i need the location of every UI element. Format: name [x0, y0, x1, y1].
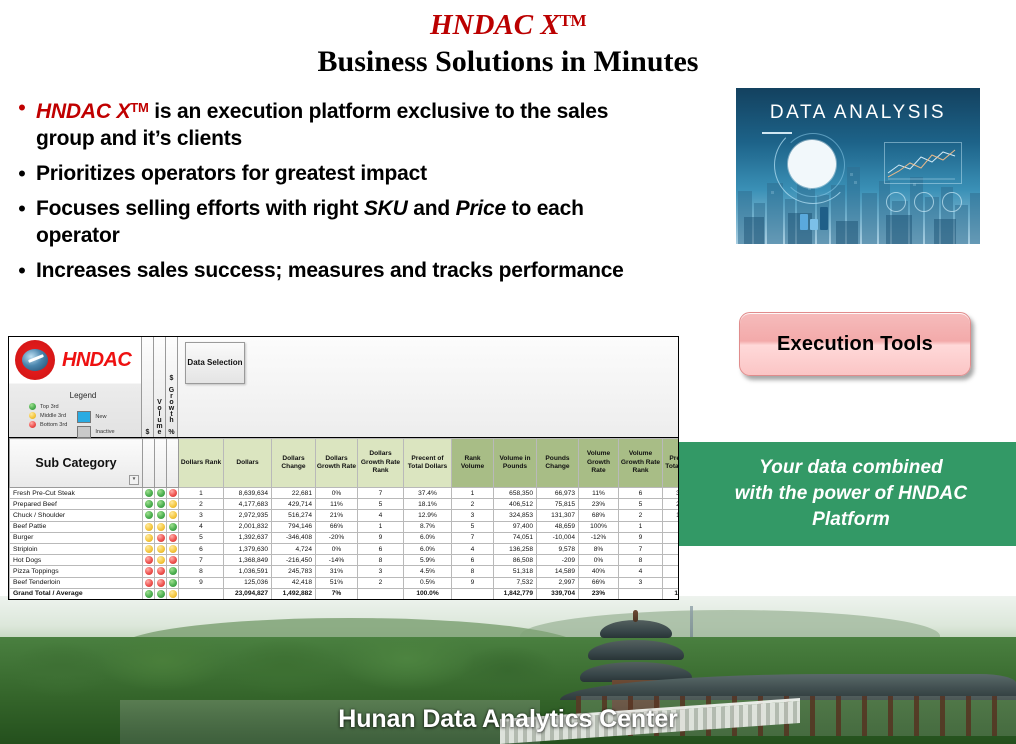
traffic-light-growth-icon [167, 555, 179, 566]
bullet-text: Prioritizes operators for greatest impac… [36, 160, 638, 187]
cell-rank-volume: 2 [452, 499, 494, 510]
cell-pct-total-volume: 35.7% [663, 488, 680, 499]
cell-dollars: 23,094,827 [224, 588, 272, 599]
bullet-text: Increases sales success; measures and tr… [36, 257, 638, 284]
traffic-light-dollars-icon [143, 588, 155, 599]
cell-volume-growth-rate-rank: 5 [619, 499, 663, 510]
column-header-light-growth [167, 439, 179, 488]
status-dot-Y [169, 590, 177, 598]
cell-volume-pounds: 136,258 [494, 543, 537, 554]
cell-pct-total-volume: 7.4% [663, 543, 680, 554]
status-dot-Y [169, 500, 177, 508]
legend: Legend Top 3rd Middle 3rd Bo [9, 383, 141, 437]
cell-dollars-growth-rate: 21% [316, 510, 358, 521]
cell-pounds-change: 75,815 [537, 499, 579, 510]
brand-name-label: HNDAC [62, 349, 131, 372]
table-row: Fresh Pre-Cut Steak18,639,63422,6810%737… [10, 488, 680, 499]
legend-inactive-square-icon [77, 426, 91, 438]
execution-tools-label: Execution Tools [777, 333, 933, 356]
cell-dollars-growth-rate-rank: 8 [358, 555, 404, 566]
column-header-sub-category[interactable]: Sub Category▾ [10, 439, 143, 488]
cell-dollars-growth-rate: 31% [316, 566, 358, 577]
cell-dollars-growth-rate: 7% [316, 588, 358, 599]
cell-volume-growth-rate-rank: 4 [619, 566, 663, 577]
cell-dollars-growth-rate-rank: 6 [358, 543, 404, 554]
cell-sub-category: Burger [10, 532, 143, 543]
cell-rank-volume: 4 [452, 543, 494, 554]
traffic-light-dollars-icon [143, 543, 155, 554]
cell-dollars-growth-rate-rank: 1 [358, 521, 404, 532]
brand-legend-cell: HNDAC Legend Top 3rd Middle 3rd [9, 337, 142, 437]
cell-pct-total-dollars: 37.4% [404, 488, 452, 499]
status-dot-R [169, 489, 177, 497]
cell-sub-category: Hot Dogs [10, 555, 143, 566]
chart-bar-1 [800, 214, 808, 230]
cell-volume-growth-rate-rank: 3 [619, 577, 663, 588]
bullet-dot-icon: • [8, 257, 36, 284]
status-dot-G [145, 489, 153, 497]
cell-pct-total-volume: 4.7% [663, 555, 680, 566]
green-message-panel: Your data combined with the power of HND… [686, 442, 1016, 546]
cell-volume-growth-rate-rank: 8 [619, 555, 663, 566]
cell-dollars-change: 516,274 [272, 510, 316, 521]
cell-dollars-rank [179, 588, 224, 599]
traffic-light-growth-icon [167, 521, 179, 532]
cell-pct-total-dollars: 6.0% [404, 532, 452, 543]
traffic-light-growth-icon [167, 566, 179, 577]
status-dot-Y [145, 545, 153, 553]
traffic-light-dollars-icon [143, 510, 155, 521]
cell-pct-total-volume: 2.8% [663, 566, 680, 577]
cell-rank-volume: 7 [452, 532, 494, 543]
pagoda-finial [633, 610, 638, 622]
table-row: Striploin61,379,6304,7240%66.0%4136,2589… [10, 543, 680, 554]
page-subtitle: Business Solutions in Minutes [0, 44, 1016, 80]
traffic-light-growth-icon [167, 510, 179, 521]
cell-dollars-growth-rate-rank [358, 588, 404, 599]
cell-dollars-change: -346,408 [272, 532, 316, 543]
cell-pct-total-volume: 100.0% [663, 588, 680, 599]
data-analysis-caption: DATA ANALYSIS [736, 102, 980, 124]
legend-green-dot-icon [29, 403, 36, 410]
status-dot-R [169, 534, 177, 542]
bullet-dot-icon: • [8, 195, 36, 222]
status-dot-Y [157, 556, 165, 564]
legend-yellow-dot-icon [29, 412, 36, 419]
cell-dollars-growth-rate: 51% [316, 577, 358, 588]
status-dot-R [145, 579, 153, 587]
vertical-column-label: Volume [156, 399, 163, 435]
cell-pct-total-dollars: 4.5% [404, 566, 452, 577]
cell-volume-pounds: 74,051 [494, 532, 537, 543]
traffic-light-volume-icon [155, 588, 167, 599]
bullet-emphasis: HNDAC XTM [36, 100, 149, 123]
traffic-light-dollars-icon [143, 532, 155, 543]
cell-sub-category: Beef Pattie [10, 521, 143, 532]
cell-pct-total-dollars: 100.0% [404, 588, 452, 599]
cell-pct-total-dollars: 0.5% [404, 577, 452, 588]
status-dot-R [145, 556, 153, 564]
bullet-emphasis-tm: TM [130, 100, 148, 115]
column-header-volume-growth-rate-rank[interactable]: Volume Growth Rate Rank [619, 439, 663, 488]
legend-new-square-icon [77, 411, 91, 423]
column-header-light-volume [155, 439, 167, 488]
status-dot-G [145, 511, 153, 519]
cell-pounds-change: 2,997 [537, 577, 579, 588]
legend-label: Middle 3rd [40, 413, 66, 419]
cell-volume-growth-rate: 66% [579, 577, 619, 588]
column-header-pounds-change[interactable]: Pounds Change [537, 439, 579, 488]
vertical-column-label: $ Growth % [168, 375, 175, 435]
cell-pounds-change: -10,004 [537, 532, 579, 543]
cell-pct-total-volume: 5.3% [663, 521, 680, 532]
cell-volume-growth-rate-rank: 1 [619, 521, 663, 532]
traffic-light-volume-icon [155, 566, 167, 577]
legend-item-bottom-third: Bottom 3rd [29, 421, 67, 428]
traffic-light-dollars-icon [143, 577, 155, 588]
line-chart-panel [884, 142, 962, 184]
cell-dollars: 8,639,634 [224, 488, 272, 499]
cell-volume-growth-rate: 0% [579, 555, 619, 566]
traffic-light-volume-icon [155, 521, 167, 532]
status-dot-Y [169, 545, 177, 553]
cell-dollars-change: 22,681 [272, 488, 316, 499]
cell-dollars-growth-rate: 0% [316, 543, 358, 554]
cell-pct-total-dollars: 6.0% [404, 543, 452, 554]
legend-column-left: Top 3rd Middle 3rd Bottom 3rd [29, 403, 67, 438]
cell-rank-volume: 8 [452, 566, 494, 577]
bullet-dot-icon: • [8, 160, 36, 187]
cell-pounds-change: 339,704 [537, 588, 579, 599]
legend-title: Legend [31, 391, 135, 400]
bullet-italic-sku: SKU [364, 197, 408, 220]
cell-sub-category: Striploin [10, 543, 143, 554]
cell-dollars-rank: 1 [179, 488, 224, 499]
table-row: Beef Tenderloin9125,03642,41851%20.5%97,… [10, 577, 680, 588]
bullet-dot-icon: • [8, 94, 36, 121]
column-header-rank-volume[interactable]: Rank Volume [452, 439, 494, 488]
cell-dollars-rank: 6 [179, 543, 224, 554]
column-header-volume-pounds[interactable]: Volume in Pounds [494, 439, 537, 488]
data-selection-button[interactable]: Data Selection [185, 342, 245, 384]
cell-volume-growth-rate: 68% [579, 510, 619, 521]
legend-red-dot-icon [29, 421, 36, 428]
cell-pounds-change: 9,578 [537, 543, 579, 554]
traffic-light-growth-icon [167, 488, 179, 499]
column-header-dollars-growth-rate[interactable]: Dollars Growth Rate [316, 439, 358, 488]
table-row: Chuck / Shoulder32,972,935516,27421%412.… [10, 510, 680, 521]
cell-dollars: 4,177,683 [224, 499, 272, 510]
cell-volume-growth-rate: 8% [579, 543, 619, 554]
cell-dollars-growth-rate-rank: 9 [358, 532, 404, 543]
column-header-dollars-change[interactable]: Dollars Change [272, 439, 316, 488]
column-header-label: Sub Category [35, 456, 116, 470]
status-dot-G [169, 567, 177, 575]
chart-bar-2 [810, 219, 818, 230]
bullet-list: • HNDAC XTM is an execution platform exc… [8, 94, 638, 292]
cell-dollars: 1,392,637 [224, 532, 272, 543]
green-panel-line-1: Your data combined [735, 455, 967, 481]
logo-needle [28, 354, 44, 363]
page-title-text: HNDAC X [430, 9, 560, 41]
traffic-light-dollars-icon [143, 488, 155, 499]
traffic-light-growth-icon [167, 588, 179, 599]
cell-volume-growth-rate: 11% [579, 488, 619, 499]
cell-pounds-change: 14,589 [537, 566, 579, 577]
vertical-column-dollars[interactable]: $ [142, 337, 154, 437]
cell-volume-pounds: 658,350 [494, 488, 537, 499]
cell-dollars-growth-rate-rank: 5 [358, 499, 404, 510]
traffic-light-dollars-icon [143, 566, 155, 577]
cell-volume-growth-rate: 40% [579, 566, 619, 577]
cell-sub-category: Fresh Pre-Cut Steak [10, 488, 143, 499]
data-analysis-image: DATA ANALYSIS [736, 88, 980, 244]
vertical-column-volume[interactable]: Volume [154, 337, 166, 437]
cell-dollars-rank: 3 [179, 510, 224, 521]
status-dot-G [145, 590, 153, 598]
traffic-light-volume-icon [155, 499, 167, 510]
table-row: Prepared Beef24,177,683429,71411%518.1%2… [10, 499, 680, 510]
column-header-light-dollars [143, 439, 155, 488]
table-row: Hot Dogs71,368,849-216,450-14%85.9%686,5… [10, 555, 680, 566]
cell-pounds-change: 131,307 [537, 510, 579, 521]
traffic-light-growth-icon [167, 499, 179, 510]
cell-volume-pounds: 324,853 [494, 510, 537, 521]
status-dot-Y [145, 523, 153, 531]
brand-logo-row: HNDAC [9, 337, 141, 383]
cell-dollars: 1,368,849 [224, 555, 272, 566]
legend-item-new: New [77, 411, 114, 423]
table-total-row: Grand Total / Average23,094,8271,492,882… [10, 588, 680, 599]
trademark-symbol: TM [560, 11, 586, 30]
cell-sub-category: Prepared Beef [10, 499, 143, 510]
page-title: HNDAC XTM [0, 4, 1016, 42]
cell-dollars-growth-rate-rank: 4 [358, 510, 404, 521]
cell-rank-volume: 6 [452, 555, 494, 566]
cell-dollars-change: 1,492,882 [272, 588, 316, 599]
cell-pounds-change: 48,659 [537, 521, 579, 532]
cell-dollars-growth-rate: 0% [316, 488, 358, 499]
traffic-light-growth-icon [167, 532, 179, 543]
bullet-italic-price: Price [456, 197, 506, 220]
cell-dollars-growth-rate: 66% [316, 521, 358, 532]
cell-dollars-change: 42,418 [272, 577, 316, 588]
traffic-light-volume-icon [155, 543, 167, 554]
spreadsheet-header-panel: HNDAC Legend Top 3rd Middle 3rd [9, 337, 678, 438]
list-item: • Focuses selling efforts with right SKU… [8, 195, 638, 249]
status-dot-R [157, 579, 165, 587]
traffic-light-growth-icon [167, 543, 179, 554]
table-header-row: Sub Category▾ Dollars Rank Dollars Dolla… [10, 439, 680, 488]
status-dot-Y [157, 545, 165, 553]
green-panel-line-2: with the power of HNDAC [735, 481, 967, 507]
status-dot-R [157, 534, 165, 542]
chart-bar-3 [820, 207, 828, 230]
cell-rank-volume: 3 [452, 510, 494, 521]
status-dot-R [145, 567, 153, 575]
cell-dollars-rank: 9 [179, 577, 224, 588]
cell-volume-growth-rate-rank [619, 588, 663, 599]
cell-dollars-change: 245,783 [272, 566, 316, 577]
cell-sub-category: Chuck / Shoulder [10, 510, 143, 521]
cell-pounds-change: -209 [537, 555, 579, 566]
table-body: Fresh Pre-Cut Steak18,639,63422,6810%737… [10, 488, 680, 600]
filter-dropdown-icon[interactable]: ▾ [129, 475, 139, 485]
cell-dollars: 1,036,591 [224, 566, 272, 577]
list-item: • Increases sales success; measures and … [8, 257, 638, 284]
hndac-logo-icon [15, 340, 55, 380]
cell-volume-pounds: 1,842,779 [494, 588, 537, 599]
bullet-emphasis-text: HNDAC X [36, 100, 130, 123]
slide-title-block: HNDAC XTM Business Solutions in Minutes [0, 4, 1016, 80]
cell-dollars-change: 794,146 [272, 521, 316, 532]
cell-pounds-change: 66,973 [537, 488, 579, 499]
status-circle-2 [914, 192, 934, 212]
cell-dollars-growth-rate-rank: 7 [358, 488, 404, 499]
cell-sub-category: Grand Total / Average [10, 588, 143, 599]
legend-label: Top 3rd [40, 404, 59, 410]
cell-dollars-rank: 5 [179, 532, 224, 543]
cell-dollars-change: 4,724 [272, 543, 316, 554]
cell-volume-growth-rate-rank: 2 [619, 510, 663, 521]
bullet-text: Focuses selling efforts with right SKU a… [36, 195, 638, 249]
status-circle-3 [942, 192, 962, 212]
table-row: Burger51,392,637-346,408-20%96.0%774,051… [10, 532, 680, 543]
list-item: • HNDAC XTM is an execution platform exc… [8, 94, 638, 152]
legend-item-middle-third: Middle 3rd [29, 412, 67, 419]
legend-items: Top 3rd Middle 3rd Bottom 3rd [29, 403, 135, 438]
cell-volume-pounds: 51,318 [494, 566, 537, 577]
toolbar-pane: Data Selection [178, 337, 678, 437]
cell-volume-growth-rate-rank: 7 [619, 543, 663, 554]
cell-volume-growth-rate-rank: 9 [619, 532, 663, 543]
cell-sub-category: Pizza Toppings [10, 566, 143, 577]
cell-rank-volume: 5 [452, 521, 494, 532]
status-dot-G [169, 579, 177, 587]
cell-sub-category: Beef Tenderloin [10, 577, 143, 588]
cell-volume-pounds: 86,508 [494, 555, 537, 566]
status-dot-G [145, 500, 153, 508]
green-panel-text: Your data combined with the power of HND… [735, 455, 967, 533]
traffic-light-volume-icon [155, 488, 167, 499]
cell-dollars-change: 429,714 [272, 499, 316, 510]
cell-dollars: 1,379,630 [224, 543, 272, 554]
cell-dollars-growth-rate: 11% [316, 499, 358, 510]
cell-dollars-growth-rate-rank: 3 [358, 566, 404, 577]
traffic-light-volume-icon [155, 510, 167, 521]
photo-banner-caption: Hunan Data Analytics Center [0, 705, 1016, 734]
bottom-photo-banner: Hunan Data Analytics Center [0, 596, 1016, 744]
status-dot-Y [157, 523, 165, 531]
cell-pct-total-dollars: 12.9% [404, 510, 452, 521]
status-dot-R [169, 556, 177, 564]
cell-pct-total-dollars: 18.1% [404, 499, 452, 510]
cell-volume-pounds: 406,512 [494, 499, 537, 510]
column-header-volume-growth-rate[interactable]: Volume Growth Rate [579, 439, 619, 488]
cell-volume-pounds: 97,400 [494, 521, 537, 532]
vertical-column-dollar-growth[interactable]: $ Growth % [166, 337, 178, 437]
legend-column-right: New Inactive [77, 403, 114, 438]
cell-volume-growth-rate: -12% [579, 532, 619, 543]
cell-dollars-rank: 2 [179, 499, 224, 510]
cell-dollars-change: -216,450 [272, 555, 316, 566]
bullet-text: HNDAC XTM is an execution platform exclu… [36, 94, 638, 152]
cell-dollars-growth-rate: -20% [316, 532, 358, 543]
cell-volume-pounds: 7,532 [494, 577, 537, 588]
table-row: Beef Pattie42,001,832794,14666%18.7%597,… [10, 521, 680, 532]
traffic-light-volume-icon [155, 532, 167, 543]
status-dot-G [157, 489, 165, 497]
status-dot-G [169, 523, 177, 531]
cell-pct-total-dollars: 8.7% [404, 521, 452, 532]
bar-chart-badge-icon [788, 140, 836, 188]
cell-volume-growth-rate: 23% [579, 588, 619, 599]
spreadsheet-dashboard[interactable]: HNDAC Legend Top 3rd Middle 3rd [8, 336, 679, 600]
cell-dollars: 125,036 [224, 577, 272, 588]
status-dot-R [157, 567, 165, 575]
cell-rank-volume [452, 588, 494, 599]
column-header-dollars-growth-rate-rank[interactable]: Dollars Growth Rate Rank [358, 439, 404, 488]
cell-rank-volume: 1 [452, 488, 494, 499]
status-dot-G [157, 500, 165, 508]
status-dot-G [157, 511, 165, 519]
traffic-light-dollars-icon [143, 499, 155, 510]
column-header-pct-total-volume[interactable]: Precent of Total Volume [663, 439, 680, 488]
traffic-light-volume-icon [155, 555, 167, 566]
traffic-light-growth-icon [167, 577, 179, 588]
cell-dollars: 2,972,935 [224, 510, 272, 521]
legend-label: Inactive [95, 429, 114, 435]
traffic-light-dollars-icon [143, 555, 155, 566]
cell-pct-total-volume: 0.4% [663, 577, 680, 588]
column-header-pct-total-dollars[interactable]: Precent of Total Dollars [404, 439, 452, 488]
cell-pct-total-volume: 22.1% [663, 499, 680, 510]
table-header: Sub Category▾ Dollars Rank Dollars Dolla… [10, 439, 680, 488]
green-panel-line-3: Platform [735, 507, 967, 533]
vertical-column-label: $ [144, 429, 151, 435]
traffic-light-volume-icon [155, 577, 167, 588]
cell-dollars-rank: 8 [179, 566, 224, 577]
cell-dollars-growth-rate-rank: 2 [358, 577, 404, 588]
cell-volume-growth-rate-rank: 6 [619, 488, 663, 499]
cell-dollars: 2,001,832 [224, 521, 272, 532]
cell-dollars-rank: 7 [179, 555, 224, 566]
list-item: • Prioritizes operators for greatest imp… [8, 160, 638, 187]
status-dot-Y [145, 534, 153, 542]
column-header-dollars[interactable]: Dollars [224, 439, 272, 488]
line-chart-svg [885, 143, 959, 181]
cell-rank-volume: 9 [452, 577, 494, 588]
legend-label: Bottom 3rd [40, 422, 67, 428]
legend-label: New [95, 414, 106, 420]
cell-dollars-growth-rate: -14% [316, 555, 358, 566]
cell-volume-growth-rate: 23% [579, 499, 619, 510]
traffic-light-dollars-icon [143, 521, 155, 532]
legend-item-inactive: Inactive [77, 426, 114, 438]
legend-item-top-third: Top 3rd [29, 403, 67, 410]
cell-dollars-rank: 4 [179, 521, 224, 532]
status-dot-Y [169, 511, 177, 519]
cell-pct-total-volume: 17.6% [663, 510, 680, 521]
table-row: Pizza Toppings81,036,591245,78331%34.5%8… [10, 566, 680, 577]
execution-tools-button[interactable]: Execution Tools [739, 312, 971, 376]
cell-pct-total-dollars: 5.9% [404, 555, 452, 566]
data-table: Sub Category▾ Dollars Rank Dollars Dolla… [9, 438, 679, 600]
cell-pct-total-volume: 4.0% [663, 532, 680, 543]
status-circle-1 [886, 192, 906, 212]
column-header-dollars-rank[interactable]: Dollars Rank [179, 439, 224, 488]
cell-volume-growth-rate: 100% [579, 521, 619, 532]
